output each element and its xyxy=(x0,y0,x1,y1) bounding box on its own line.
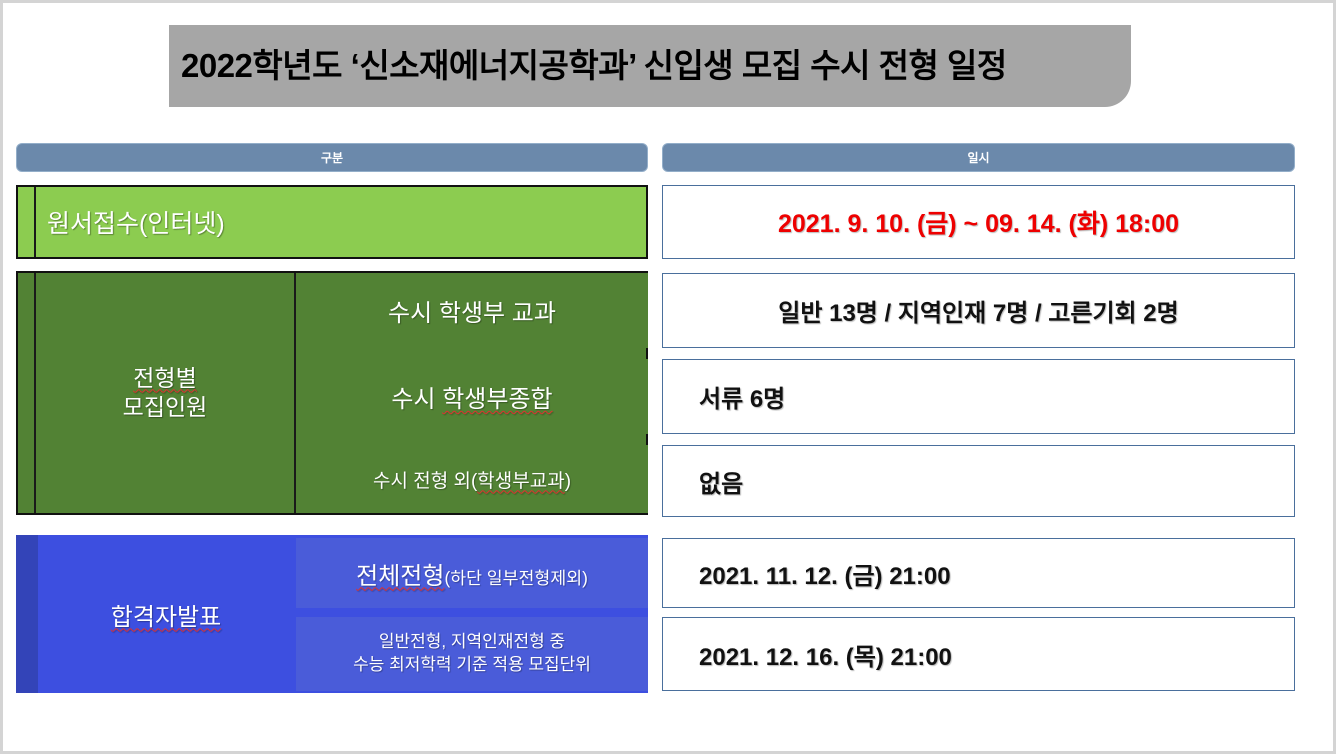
page-title: 2022학년도 ‘신소재에너지공학과’ 신입생 모집 수시 전형 일정 xyxy=(181,39,1121,87)
subrow-susi-subject-value-box: 일반 13명 / 지역인재 7명 / 고른기회 2명 xyxy=(662,273,1295,348)
subrow-all-types-marked: 전체전형 xyxy=(356,563,444,590)
subrow-non-susi-prefix: 수시 전형 외( xyxy=(373,471,477,492)
subrow-non-susi-label-cell: 수시 전형 외(학생부교과) xyxy=(296,445,648,513)
subrow-susi-comprehensive-label: 수시 학생부종합 xyxy=(391,379,552,414)
column-header-date: 일시 xyxy=(662,143,1295,172)
row-application-value: 2021. 9. 10. (금) ~ 09. 14. (화) 18:00 xyxy=(778,204,1179,240)
subrow-minimum-csat-label-cell: 일반전형, 지역인재전형 중 수능 최저학력 기준 적용 모집단위 xyxy=(296,617,648,691)
subrow-non-susi-label: 수시 전형 외(학생부교과) xyxy=(373,466,571,493)
subrow-susi-subject-label-cell: 수시 학생부 교과 xyxy=(296,273,648,348)
subrow-non-susi-suffix: ) xyxy=(565,471,571,492)
subrow-susi-subject-label: 수시 학생부 교과 xyxy=(388,293,556,328)
subrow-non-susi-marked: 학생부교과 xyxy=(477,471,564,492)
row-quota-label-line1: 전형별 xyxy=(133,364,196,393)
row-announcement-label-text: 합격자발표 xyxy=(111,597,221,632)
subrow-all-types-value-box: 2021. 11. 12. (금) 21:00 xyxy=(662,538,1295,608)
subrow-all-types-value: 2021. 11. 12. (금) 21:00 xyxy=(699,556,951,591)
column-header-category-label: 구분 xyxy=(321,149,343,166)
subrow-susi-comprehensive-marked: 학생부종합 xyxy=(442,386,552,413)
subrow-minimum-csat-label: 일반전형, 지역인재전형 중 수능 최저학력 기준 적용 모집단위 xyxy=(353,631,591,677)
subrow-non-susi-value-box: 없음 xyxy=(662,445,1295,517)
subrow-all-types-suffix: (하단 일부전형제외) xyxy=(444,568,587,588)
subrow-susi-subject-value: 일반 13명 / 지역인재 7명 / 고른기회 2명 xyxy=(778,293,1178,328)
subrow-minimum-csat-line2: 수능 최저학력 기준 적용 모집단위 xyxy=(353,655,591,674)
column-header-date-label: 일시 xyxy=(967,149,989,166)
row-announcement-accent-strip xyxy=(16,535,38,693)
row-application-value-box: 2021. 9. 10. (금) ~ 09. 14. (화) 18:00 xyxy=(662,185,1295,259)
row-application-label: 원서접수(인터넷) xyxy=(47,185,225,259)
subrow-susi-comprehensive-label-cell: 수시 학생부종합 xyxy=(296,359,648,434)
row-application-divider xyxy=(34,187,36,257)
row-quota-label-line2: 모집인원 xyxy=(123,393,208,422)
subrow-minimum-csat-line1: 일반전형, 지역인재전형 중 xyxy=(379,632,565,651)
column-header-category: 구분 xyxy=(16,143,648,172)
subrow-all-types-label-cell: 전체전형(하단 일부전형제외) xyxy=(296,538,648,608)
subrow-all-types-label: 전체전형(하단 일부전형제외) xyxy=(356,556,588,591)
slide-page: 2022학년도 ‘신소재에너지공학과’ 신입생 모집 수시 전형 일정 구분 일… xyxy=(0,0,1336,754)
row-quota-label: 전형별 모집인원 xyxy=(36,271,294,515)
subrow-minimum-csat-value: 2021. 12. 16. (목) 21:00 xyxy=(699,637,952,672)
row-announcement-label: 합격자발표 xyxy=(38,535,294,693)
subrow-susi-comprehensive-value: 서류 6명 xyxy=(699,379,785,414)
subrow-non-susi-value: 없음 xyxy=(699,464,743,499)
subrow-minimum-csat-value-box: 2021. 12. 16. (목) 21:00 xyxy=(662,617,1295,691)
subrow-susi-comprehensive-value-box: 서류 6명 xyxy=(662,359,1295,434)
